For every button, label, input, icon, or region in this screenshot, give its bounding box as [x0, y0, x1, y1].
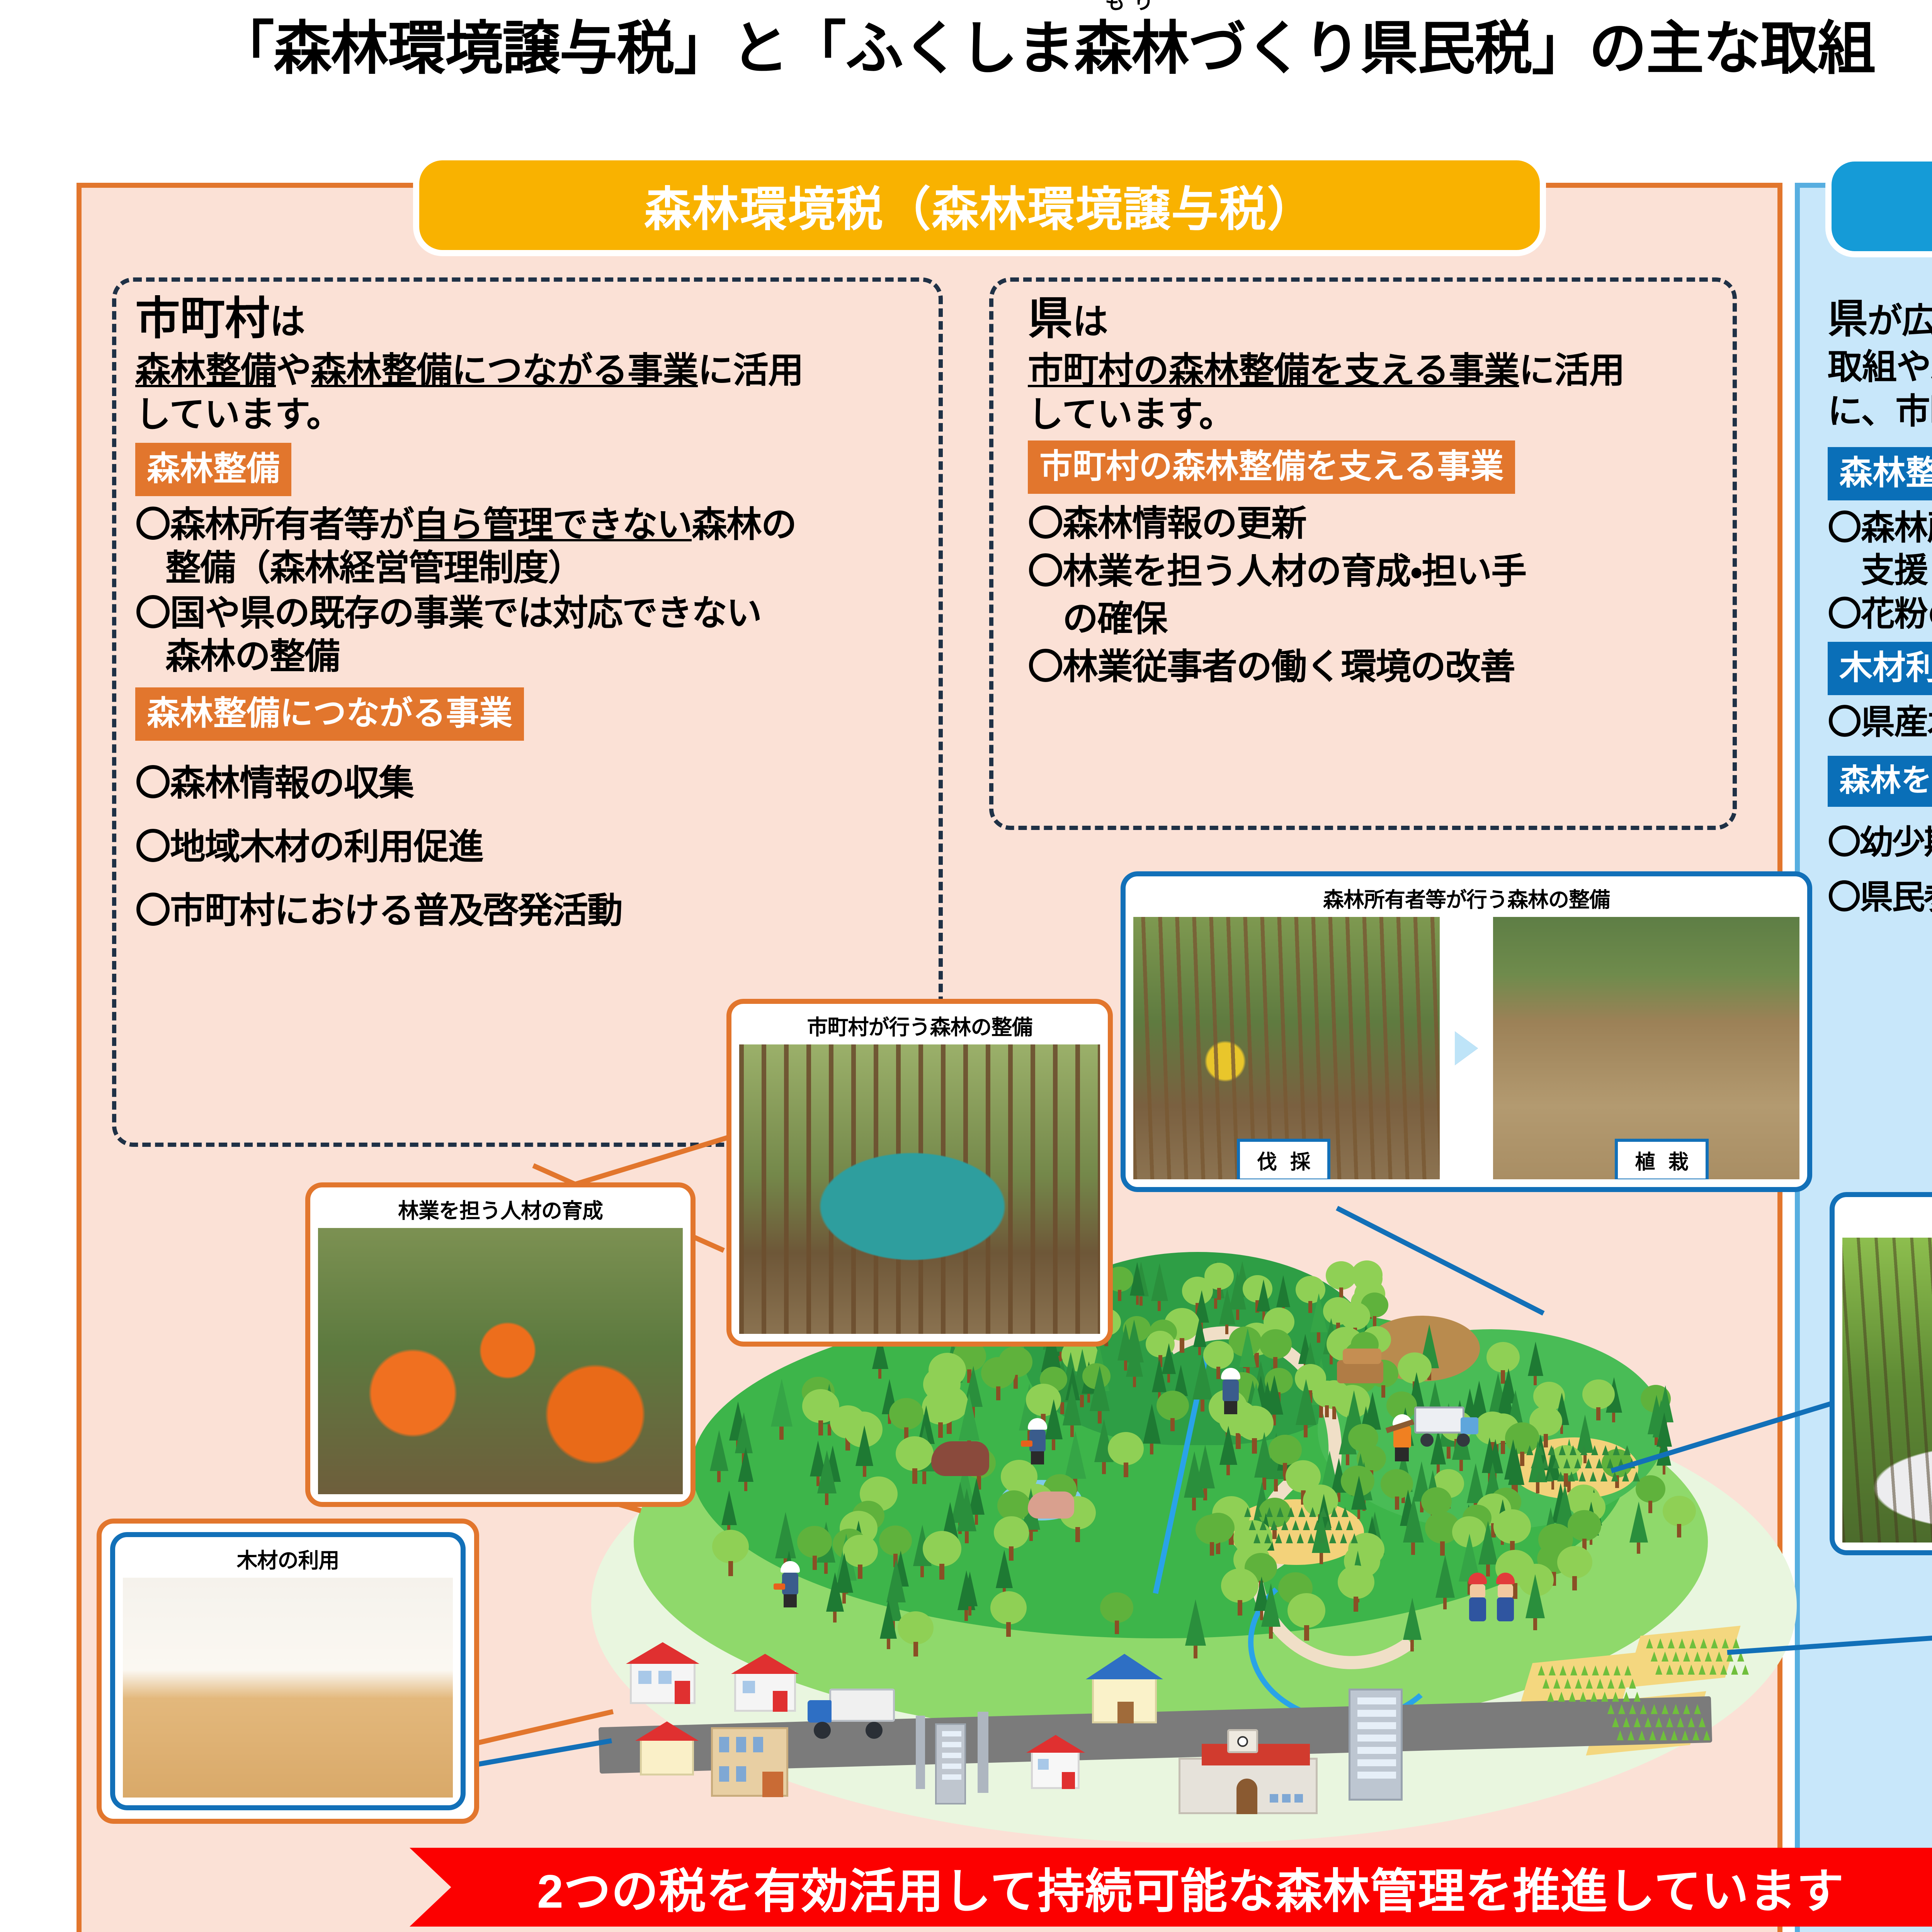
photo-subcaption-felling: 伐 採 [1237, 1139, 1330, 1179]
photo-felling: 伐 採 [1133, 917, 1440, 1179]
badge-support-projects: 市町村の森林整備を支える事業 [1028, 440, 1515, 494]
blue-lead-rest1: が広域的に実施する森林環境を保全する [1867, 302, 1932, 340]
prefecture-heading: 県は [1028, 294, 1727, 344]
page-title-ruby-base: 森林 [1074, 16, 1189, 81]
municipality-content: 市町村は 森林整備や森林整備につながる事業に活用 しています。 森林整備 〇森林… [135, 294, 923, 944]
item-cont: 森林の整備 [135, 635, 923, 678]
prefecture-content: 県は 市町村の森林整備を支える事業に活用 しています。 市町村の森林整備を支える… [1028, 294, 1727, 692]
municipality-lead-line2: しています。 [135, 395, 342, 434]
photo-planting: 植 栽 [1493, 917, 1799, 1179]
prefecture-heading-main: 県 [1028, 293, 1073, 344]
item-post: 森林の [692, 505, 796, 544]
page-title-ruby-group: もり森林 [1074, 19, 1189, 77]
list-item: 〇国や県の既存の事業では対応できない 森林の整備 [135, 592, 923, 678]
municipality-lead-tail: に活用 [698, 351, 803, 390]
photo-school-forest-walk [1842, 1238, 1932, 1543]
blue-lead: 県が広域的に実施する森林環境を保全する 取組や森林を守り育てる意識を広げる取組 … [1828, 294, 1932, 434]
photo-card-wood-use-outer[interactable]: 木材の利用 [97, 1519, 479, 1824]
badge-wood-utilization: 木材利用 [1828, 642, 1932, 695]
blue-lead-bold: 県 [1828, 297, 1867, 342]
photo-card-owner-maintenance[interactable]: 森林所有者等が行う森林の整備 伐 採 植 栽 [1121, 871, 1812, 1192]
list-item: 〇森林所有者等が自ら管理する森林の整備を 支援 [1828, 507, 1932, 591]
municipality-lead-mid: や [276, 351, 311, 390]
blue-items3: 〇幼少期から大人までの森林環境学習 〇県民参画によるもり森林づくり [1828, 816, 1932, 924]
municipality-heading: 市町村は [135, 294, 923, 344]
photo-card-wood-use[interactable]: 木材の利用 [110, 1532, 466, 1810]
photo-card-forest-education[interactable]: 森林環境学習 [1830, 1192, 1932, 1555]
municipality-lead-u1: 森林整備 [135, 351, 276, 390]
item-pre: 国や県の既存の事業では対応できない [170, 594, 761, 633]
list-item: 〇林業を担う人材の育成・担い手 [1028, 549, 1727, 595]
blue-panel-content: 県が広域的に実施する森林環境を保全する 取組や森林を守り育てる意識を広げる取組 … [1828, 294, 1932, 925]
prefecture-lead: 市町村の森林整備を支える事業に活用 しています。 [1028, 349, 1727, 437]
list-item: 〇地域木材の利用促進 [135, 816, 923, 878]
item-bullet: 〇 [135, 594, 170, 633]
municipality-badge2-wrap: 森林整備につながる事業 [135, 687, 923, 741]
page-title-part1: 「森林環境譲与税」と「ふくしま [216, 16, 1074, 81]
list-item: 〇森林所有者等が自ら管理できない森林の 整備（森林経営管理制度） [135, 503, 923, 590]
list-item: 〇市町村における普及啓発活動 [135, 880, 923, 942]
blue-lead-rest2: 取組や森林を守り育てる意識を広げる取組 [1828, 348, 1932, 386]
footer-banner-label: 2つの税を有効活用して持続可能な森林管理を推進しています [537, 1853, 1844, 1922]
photo-subcaption-planting: 植 栽 [1615, 1139, 1708, 1179]
photo-municipal-machine [739, 1044, 1100, 1334]
list-item: 〇森林情報の更新 [1028, 501, 1727, 547]
badge-linked-projects: 森林整備につながる事業 [135, 687, 524, 741]
prefecture-lead-tail: に活用 [1519, 351, 1624, 390]
blue-items1: 〇森林所有者等が自ら管理する森林の整備を 支援 〇花粉の発生源対策 [1828, 507, 1932, 634]
photo-caption: 林業を担う人材の育成 [398, 1194, 603, 1224]
arrow-right-icon [1455, 1031, 1478, 1065]
prefecture-heading-suffix: は [1073, 302, 1108, 342]
municipality-lead-u2: 森林整備につながる事業 [311, 351, 698, 390]
item-bullet: 〇 [135, 505, 170, 544]
tab-forest-environment-tax[interactable]: 森林環境税（森林環境譲与税） [419, 160, 1540, 250]
badge-awareness-initiatives: 森林を守り育てる意識を高める取組 [1828, 756, 1932, 807]
municipality-items2: 〇森林情報の収集 〇地域木材の利用促進 〇市町村における普及啓発活動 [135, 752, 923, 942]
prefecture-lead-u1: 市町村の森林整備を支える事業 [1028, 351, 1519, 390]
prefecture-items: 〇森林情報の更新 〇林業を担う人材の育成・担い手 の確保 〇林業従事者の働く環境… [1028, 501, 1727, 690]
list-item: 〇県産木材の利用促進 [1828, 701, 1932, 743]
blue-badge1-wrap: 森林整備 [1828, 447, 1932, 500]
item-underline: 自ら管理できない [413, 505, 692, 544]
photo-card-municipal-maintenance[interactable]: 市町村が行う森林の整備 [726, 999, 1113, 1347]
list-item: 〇林業従事者の働く環境の改善 [1028, 644, 1727, 690]
item-cont: 支援 [1828, 551, 1927, 589]
municipality-lead: 森林整備や森林整備につながる事業に活用 しています。 [135, 349, 923, 437]
page-title-part2: づくり県民税」の主な取組 [1189, 16, 1875, 81]
item-pre: 〇県民参画による [1828, 879, 1932, 916]
item-cont: 整備（森林経営管理制度） [135, 546, 923, 590]
blue-lead-rest3: に、市町村と協力して活用しています。 [1828, 392, 1932, 431]
badge-blue-forest-maintenance: 森林整備 [1828, 447, 1932, 500]
blue-badge2-wrap: 木材利用 [1828, 642, 1932, 695]
list-item: 〇森林情報の収集 [135, 752, 923, 815]
badge-forest-maintenance: 森林整備 [135, 443, 291, 496]
photo-card-forestry-training[interactable]: 林業を担う人材の育成 [305, 1182, 696, 1507]
municipality-badge1-wrap: 森林整備 [135, 443, 923, 496]
page-title-ruby: もり [1101, 0, 1162, 12]
list-item: 〇花粉の発生源対策 [1828, 593, 1932, 635]
tab-orange-label: 森林環境税（森林環境譲与税） [644, 171, 1315, 240]
municipality-heading-suffix: は [270, 302, 305, 342]
municipality-heading-main: 市町村 [135, 293, 270, 344]
photo-training-crew [318, 1228, 683, 1494]
prefecture-badge-wrap: 市町村の森林整備を支える事業 [1028, 440, 1727, 494]
photo-caption: 木材の利用 [237, 1543, 339, 1574]
list-item: の確保 [1028, 596, 1727, 643]
blue-items2: 〇県産木材の利用促進 [1828, 701, 1932, 743]
item-pre: 森林所有者等が [170, 505, 413, 544]
tab-fukushima-forest-tax[interactable]: ふくしまもり森林づくり県民税 [1832, 162, 1932, 251]
list-item: 〇幼少期から大人までの森林環境学習 [1828, 816, 1932, 869]
photo-wooden-corridor [123, 1578, 453, 1798]
list-item: 〇県民参画によるもり森林づくり [1828, 871, 1932, 924]
item-pre: 〇森林所有者等が [1828, 509, 1932, 547]
photo-caption: 森林所有者等が行う森林の整備 [1323, 883, 1610, 913]
prefecture-lead-line2: しています。 [1028, 395, 1234, 434]
municipality-items1: 〇森林所有者等が自ら管理できない森林の 整備（森林経営管理制度） 〇国や県の既存… [135, 503, 923, 678]
blue-badge3-wrap: 森林を守り育てる意識を高める取組 [1828, 756, 1932, 807]
page-title: 「森林環境譲与税」と「ふくしまもり森林づくり県民税」の主な取組 [216, 19, 1932, 77]
photo-caption: 市町村が行う森林の整備 [807, 1010, 1032, 1041]
